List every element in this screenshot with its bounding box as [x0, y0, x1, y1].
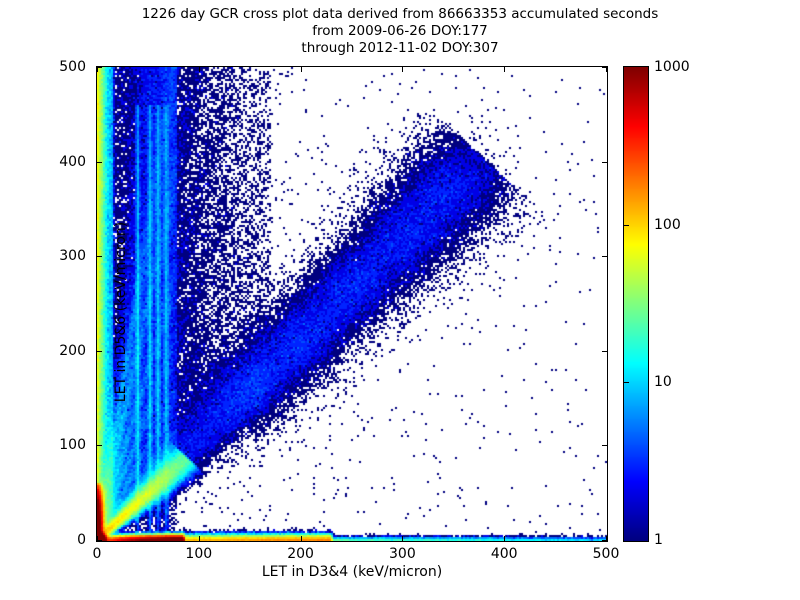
density-plot-canvas — [97, 67, 607, 541]
y-tick-label: 400 — [59, 154, 86, 170]
y-tick-mark — [97, 162, 102, 163]
x-tick-mark-top — [301, 67, 302, 72]
x-tick-label: 300 — [389, 546, 416, 562]
y-tick-label: 0 — [77, 532, 86, 548]
y-tick-mark — [97, 540, 102, 541]
colorbar-gradient — [624, 67, 648, 541]
colorbar-tick-label: 1 — [654, 532, 663, 548]
y-tick-label: 300 — [59, 248, 86, 264]
y-tick-mark — [97, 67, 102, 68]
plot-axes — [96, 66, 608, 542]
y-tick-mark — [97, 256, 102, 257]
x-tick-mark — [402, 536, 403, 541]
y-tick-label: 200 — [59, 343, 86, 359]
y-tick-mark — [97, 445, 102, 446]
x-tick-label: 400 — [491, 546, 518, 562]
y-tick-mark — [97, 351, 102, 352]
y-axis-label: LET in D5&6 (keV/micron) — [113, 74, 129, 550]
x-axis-label: LET in D3&4 (keV/micron) — [96, 564, 608, 580]
x-tick-mark — [199, 536, 200, 541]
x-tick-label: 500 — [593, 546, 620, 562]
title-line-2: from 2009-06-26 DOY:177 — [0, 23, 800, 40]
y-tick-mark-right — [602, 540, 607, 541]
x-tick-mark-top — [199, 67, 200, 72]
x-tick-mark-top — [402, 67, 403, 72]
x-tick-label: 200 — [287, 546, 314, 562]
title-line-1: 1226 day GCR cross plot data derived fro… — [0, 6, 800, 23]
x-tick-label: 100 — [185, 546, 212, 562]
title-line-3: through 2012-11-02 DOY:307 — [0, 40, 800, 57]
figure-title: 1226 day GCR cross plot data derived fro… — [0, 6, 800, 57]
y-tick-label: 100 — [59, 437, 86, 453]
colorbar-tick-label: 10 — [654, 374, 672, 390]
y-tick-mark-right — [602, 445, 607, 446]
x-tick-mark-top — [504, 67, 505, 72]
colorbar-tick-label: 100 — [654, 217, 681, 233]
y-tick-label: 500 — [59, 59, 86, 75]
y-tick-mark-right — [602, 67, 607, 68]
y-tick-mark-right — [602, 162, 607, 163]
colorbar-tick-mark — [624, 225, 629, 226]
x-tick-mark — [504, 536, 505, 541]
colorbar — [623, 66, 649, 542]
y-tick-mark-right — [602, 256, 607, 257]
colorbar-tick-label: 1000 — [654, 59, 690, 75]
x-tick-mark — [301, 536, 302, 541]
gcr-cross-plot-figure: 1226 day GCR cross plot data derived fro… — [0, 0, 800, 600]
x-tick-label: 0 — [93, 546, 102, 562]
y-tick-mark-right — [602, 351, 607, 352]
colorbar-tick-mark — [624, 382, 629, 383]
